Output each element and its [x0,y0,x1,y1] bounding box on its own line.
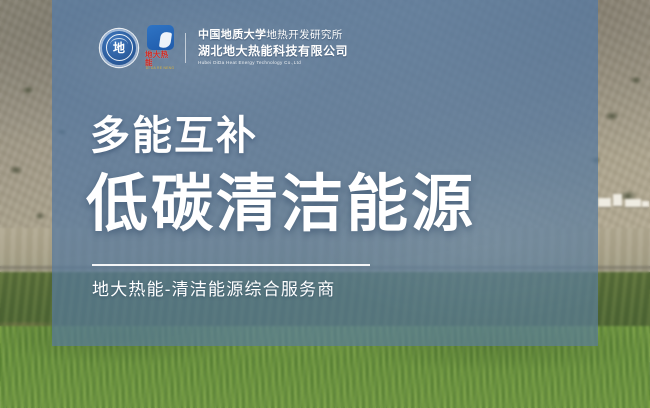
promotional-banner: 地 地大热能 DI DA RE NENG 中国地质大学地热开发研究所 湖北地大热… [0,0,650,408]
dida-rainbow-mark-icon: 地大热能 DI DA RE NENG [145,25,175,71]
hero-subtitle: 多能互补 [90,116,258,156]
hero-divider [92,264,370,266]
organization-text-block: 中国地质大学地热开发研究所 湖北地大热能科技有限公司 Hubei DiDa He… [198,30,348,66]
seal-glyph: 地 [113,42,125,54]
seal-inner-ring: 地 [106,34,133,61]
lockup-divider [185,33,186,63]
brand-mark-pinyin: DI DA RE NENG [146,67,175,70]
org-institute-name: 地热开发研究所 [266,29,342,41]
brand-mark-cn: 地大热能 [145,51,175,66]
brand-lockup: 地 地大热能 DI DA RE NENG 中国地质大学地热开发研究所 湖北地大热… [100,25,348,71]
org-company-name-english: Hubei DiDa Heat Energy Technology Co.,Lt… [198,61,345,66]
hero-title: 低碳清洁能源 [86,174,476,236]
hero-tagline: 地大热能-清洁能源综合服务商 [92,281,335,298]
org-company-name: 湖北地大热能科技有限公司 [198,45,348,57]
mark-tile [147,25,174,50]
org-line-1: 中国地质大学地热开发研究所 [198,30,348,41]
org-university-name: 中国地质大学 [198,29,266,41]
university-seal-icon: 地 [100,29,138,67]
